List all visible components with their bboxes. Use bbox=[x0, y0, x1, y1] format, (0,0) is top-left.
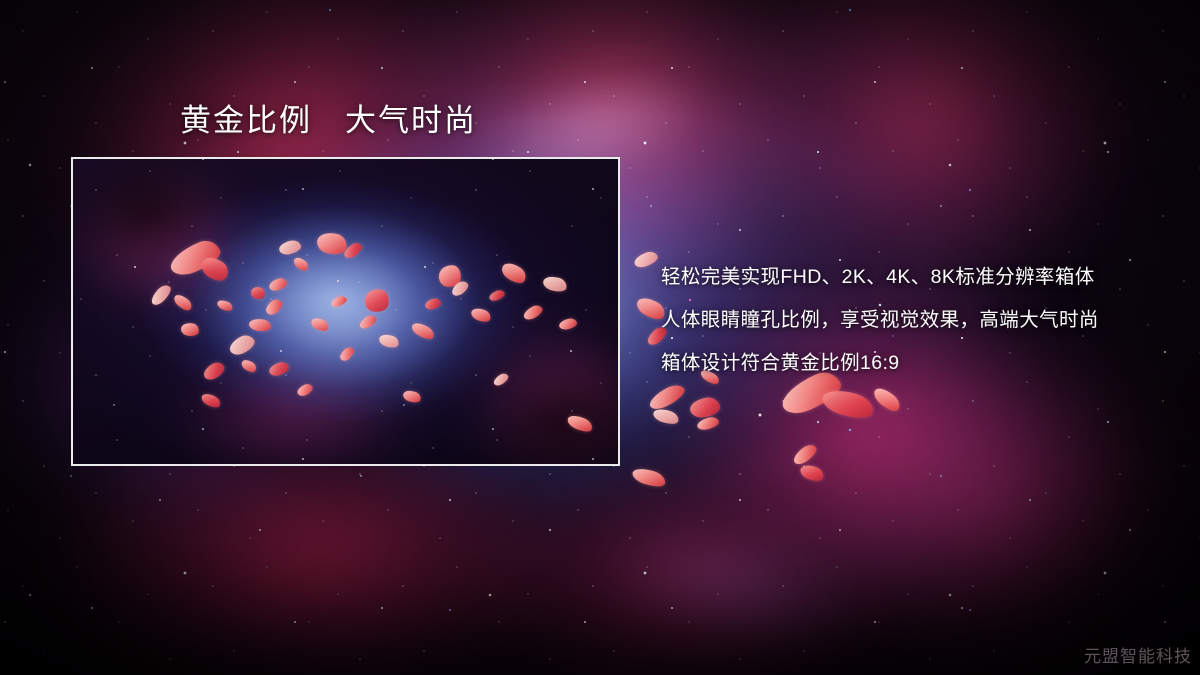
panel-shadow-bottom-right bbox=[473, 359, 618, 464]
watermark: 元盟智能科技 bbox=[1084, 642, 1192, 667]
slide-canvas: 黄金比例 大气时尚 轻松完美实现FHD、2K、4K、8K标准分辨率箱体 人体眼睛… bbox=[0, 0, 1200, 675]
page-title: 黄金比例 大气时尚 bbox=[180, 102, 477, 141]
preview-panel[interactable] bbox=[71, 157, 620, 466]
body-text-block: 轻松完美实现FHD、2K、4K、8K标准分辨率箱体 人体眼睛瞳孔比例，享受视觉效… bbox=[661, 256, 1181, 385]
panel-nebula-magenta-bottom bbox=[133, 369, 453, 464]
body-line: 箱体设计符合黄金比例16:9 bbox=[661, 342, 1181, 385]
body-line: 轻松完美实现FHD、2K、4K、8K标准分辨率箱体 bbox=[661, 256, 1181, 299]
body-line: 人体眼睛瞳孔比例，享受视觉效果，高端大气时尚 bbox=[661, 299, 1181, 342]
preview-panel-content bbox=[73, 159, 618, 464]
panel-shadow-top-left bbox=[73, 159, 233, 279]
